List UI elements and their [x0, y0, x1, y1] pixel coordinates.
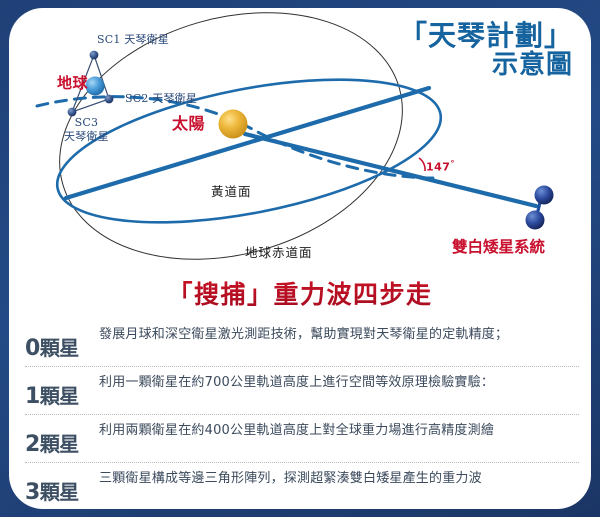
line-of-sight-to-binary [245, 134, 536, 206]
label-binary-white-dwarf: 雙白矮星系統 [452, 240, 545, 256]
step-count-unit: 顆星 [40, 336, 79, 360]
satellite-sc1-icon [90, 51, 99, 60]
node-line-solid [66, 88, 429, 198]
orbit-diagram: 地球 太陽 SC1 天琴衛星 SC2 天琴衛星 SC3 天琴衛星 黃道面 地球赤… [9, 8, 591, 276]
step-count: 0顆星 [25, 324, 99, 361]
angle-marker [419, 158, 425, 171]
step-description: 發展月球和深空衛星激光測距技術，幫助實現對天琴衛星的定軌精度； [99, 324, 579, 344]
step-count-unit: 顆星 [40, 432, 79, 456]
label-earth-equatorial-plane: 地球赤道面 [245, 247, 313, 260]
step-count: 3顆星 [25, 468, 99, 505]
steps-section: 「搜捕」重力波四步走 0顆星 發展月球和深空衛星激光測距技術，幫助實現對天琴衛星… [9, 270, 591, 510]
steps-list: 0顆星 發展月球和深空衛星激光測距技術，幫助實現對天琴衛星的定軌精度； 1顆星 … [9, 319, 591, 510]
step-count-number: 0 [25, 336, 40, 361]
step-row: 0顆星 發展月球和深空衛星激光測距技術，幫助實現對天琴衛星的定軌精度； [25, 319, 579, 367]
infographic-card: 地球 太陽 SC1 天琴衛星 SC2 天琴衛星 SC3 天琴衛星 黃道面 地球赤… [9, 8, 591, 509]
label-sc1: SC1 天琴衛星 [97, 34, 169, 45]
step-row: 3顆星 三顆衛星構成等邊三角形陣列，探測超緊湊雙白矮星產生的重力波 [25, 463, 579, 510]
step-description: 利用兩顆衛星在約400公里軌道高度上對全球重力場進行高精度測繪 [99, 420, 579, 440]
label-sc3-line2: 天琴衛星 [64, 130, 109, 144]
step-count: 1顆星 [25, 372, 99, 409]
step-count-number: 3 [25, 480, 40, 505]
step-description: 利用一顆衛星在約700公里軌道高度上進行空間等效原理檢驗實驗： [99, 372, 579, 392]
step-count: 2顆星 [25, 420, 99, 457]
step-count-number: 2 [25, 432, 40, 457]
satellite-sc2-icon [105, 95, 114, 104]
infographic-page: 地球 太陽 SC1 天琴衛星 SC2 天琴衛星 SC3 天琴衛星 黃道面 地球赤… [0, 0, 600, 517]
page-title-line2: 示意圖 [399, 51, 573, 80]
label-earth: 地球 [57, 76, 88, 91]
page-title: 「天琴計劃」 示意圖 [399, 20, 573, 80]
label-ecliptic-plane: 黃道面 [211, 186, 252, 199]
label-sc3: SC3 天琴衛星 [64, 116, 109, 144]
page-title-line1: 「天琴計劃」 [399, 20, 573, 51]
sun-icon [219, 110, 248, 139]
earth-icon [86, 77, 105, 96]
step-row: 1顆星 利用一顆衛星在約700公里軌道高度上進行空間等效原理檢驗實驗： [25, 367, 579, 415]
ecliptic-plane-ellipse [46, 53, 452, 249]
step-count-number: 1 [25, 384, 40, 409]
step-count-unit: 顆星 [40, 480, 79, 504]
step-description: 三顆衛星構成等邊三角形陣列，探測超緊湊雙白矮星產生的重力波 [99, 468, 579, 488]
steps-heading: 「搜捕」重力波四步走 [9, 270, 591, 319]
step-row: 2顆星 利用兩顆衛星在約400公里軌道高度上對全球重力場進行高精度測繪 [25, 415, 579, 463]
label-inclination-angle: 147° [426, 160, 455, 173]
binary-white-dwarf-icon [526, 186, 554, 230]
angle-value: 147 [426, 161, 450, 174]
label-sc2: SC2 天琴衛星 [125, 93, 197, 104]
label-sun: 太陽 [172, 116, 205, 132]
angle-unit: ° [450, 159, 455, 168]
step-count-unit: 顆星 [40, 384, 79, 408]
label-sc3-line1: SC3 [64, 116, 109, 130]
